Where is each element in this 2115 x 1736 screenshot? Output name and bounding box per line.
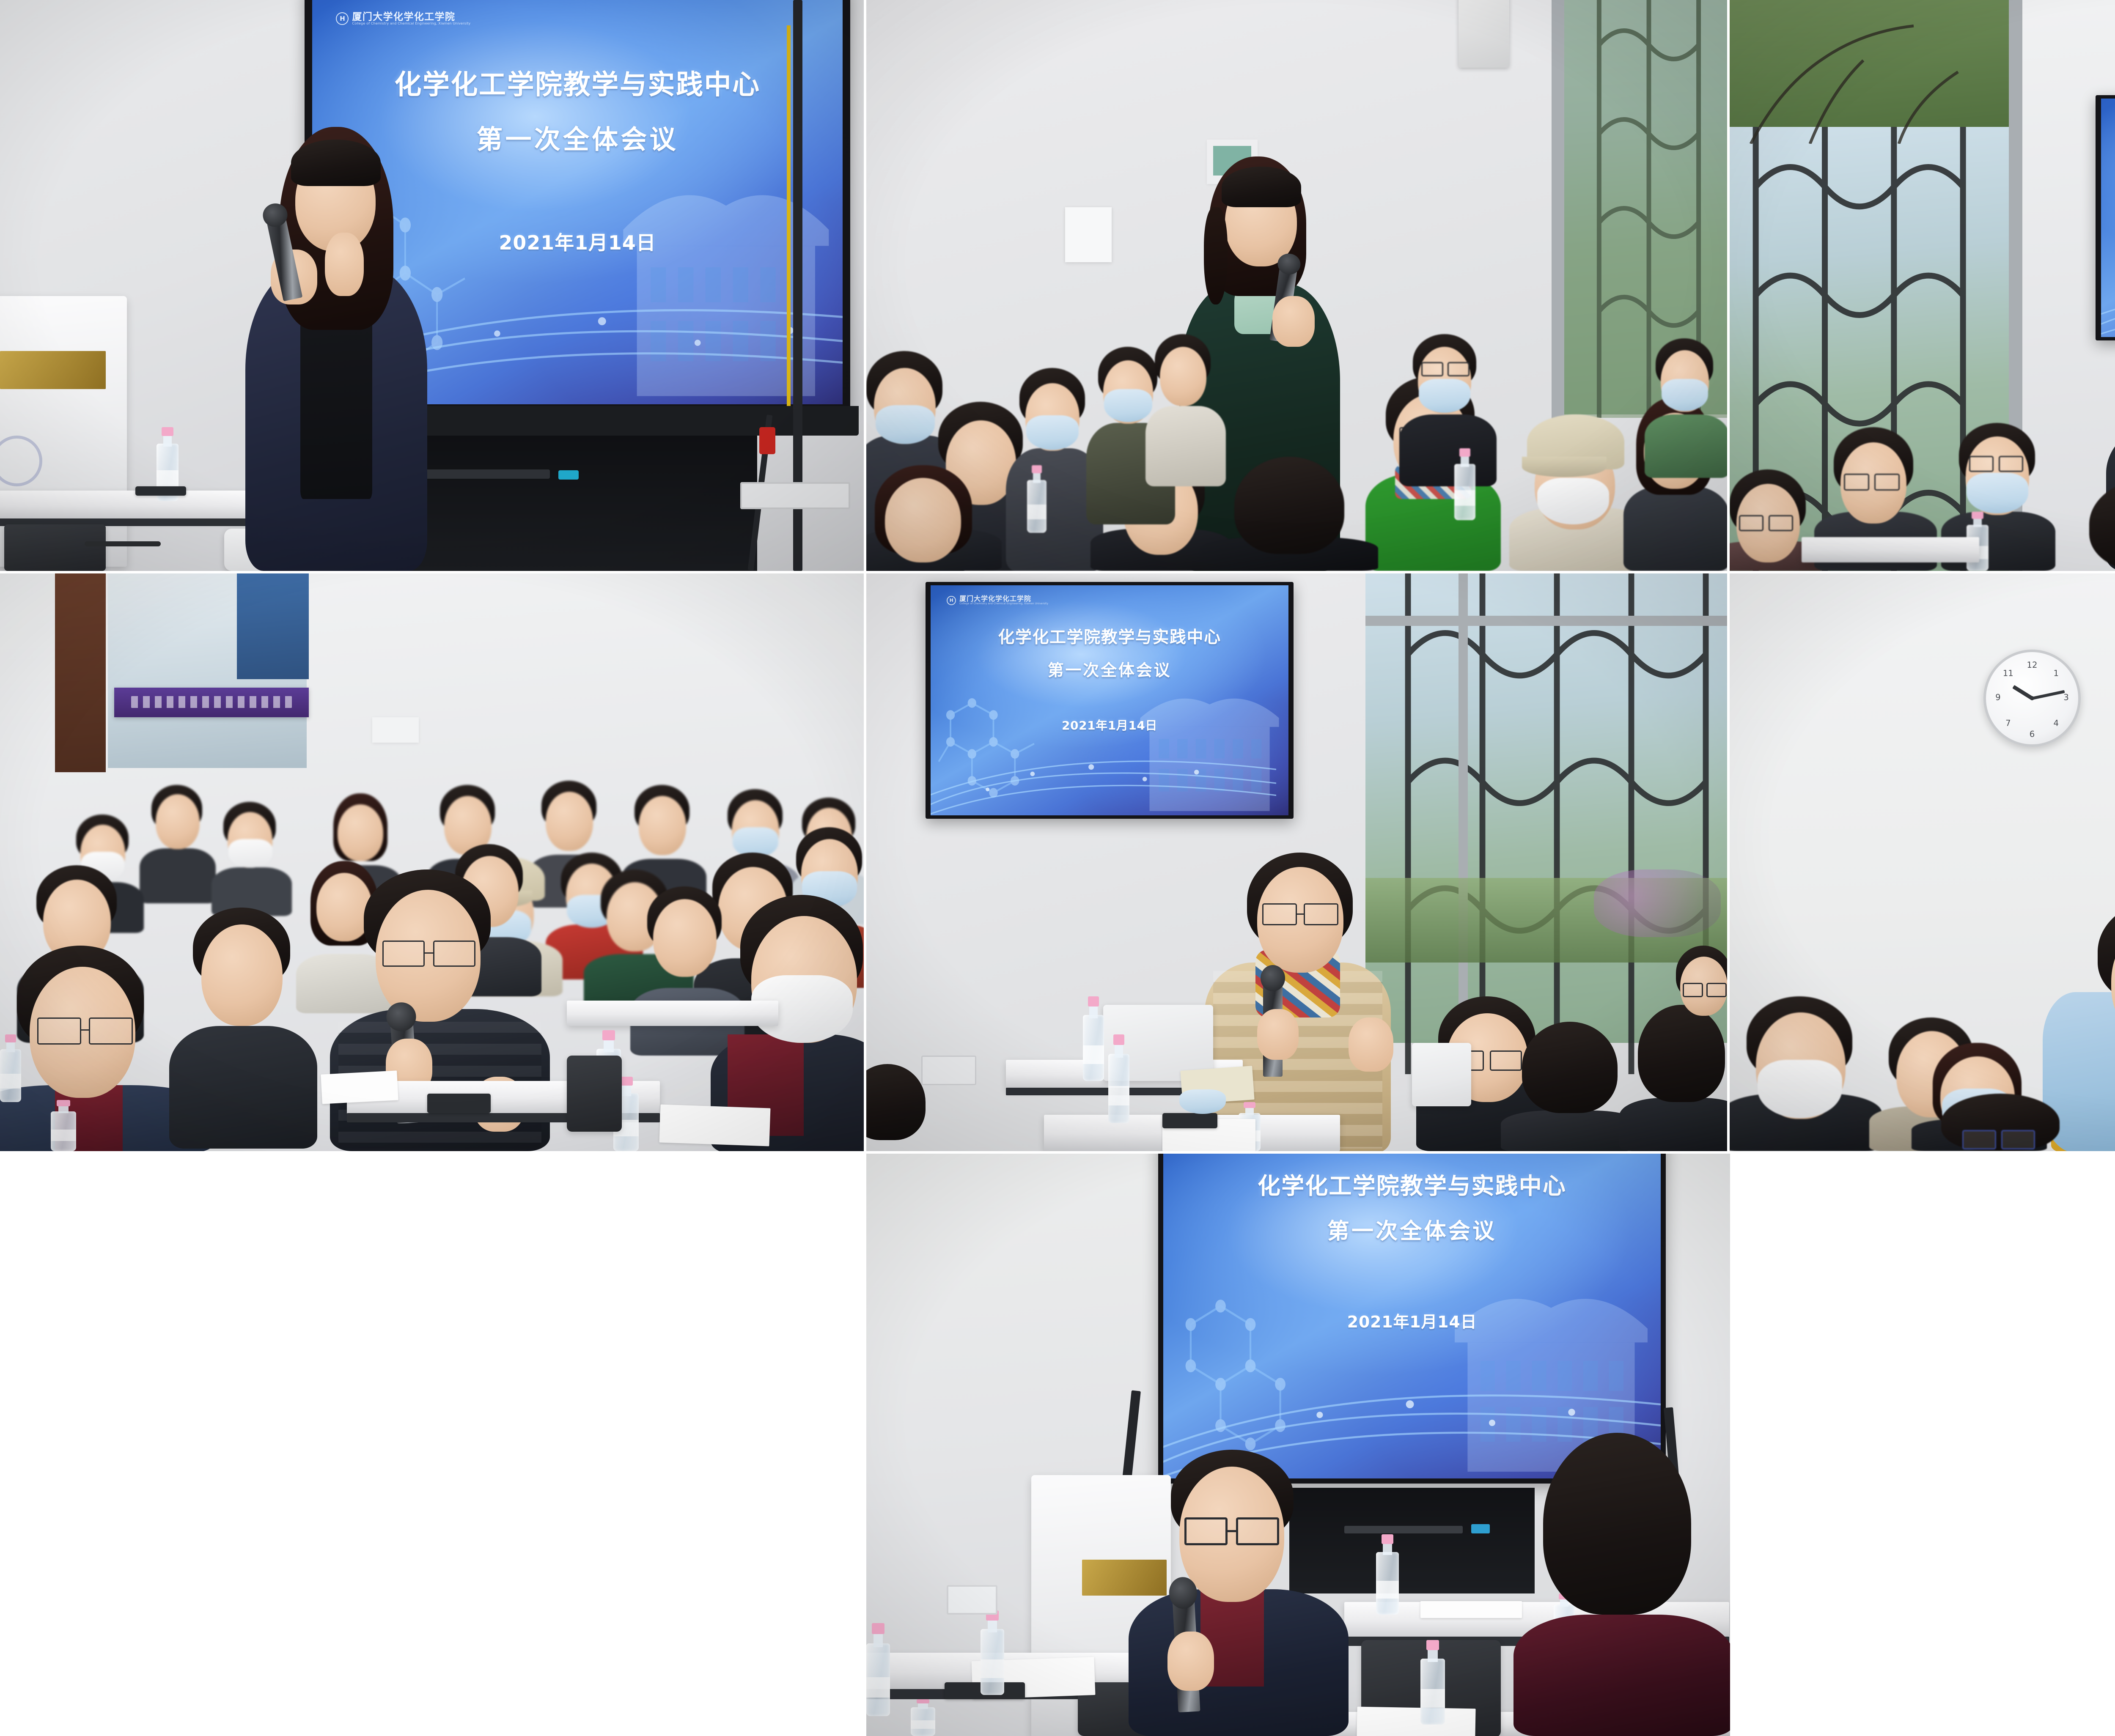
- red-equipment-box: [759, 427, 775, 454]
- wall-notice: [372, 717, 419, 743]
- presenter-fringe: [291, 140, 381, 186]
- sign-text-blur: [131, 696, 292, 708]
- chair: [1412, 1043, 1471, 1106]
- glasses-icon: [382, 941, 425, 967]
- water-bottle: [1376, 1534, 1399, 1615]
- standing-speaker: [1200, 853, 1420, 1151]
- svg-text:1: 1: [2053, 669, 2058, 678]
- lectern-plaque: [0, 351, 106, 389]
- speaker-person: [220, 127, 457, 571]
- svg-text:12: 12: [2027, 660, 2038, 670]
- slide-content: H 厦门大学化学化工学院 College of Chemistry and Ch…: [2101, 99, 2115, 337]
- slide-content: 化学化工学院教学与实践中心 第一次全体会议 2021年1月14日: [1163, 1154, 1661, 1478]
- water-bottle: [911, 1699, 935, 1736]
- wall-socket-panel: [921, 1056, 976, 1085]
- slide-logo: H 厦门大学化学化工学院 College of Chemistry and Ch…: [947, 595, 1048, 605]
- audience-member-front: [1200, 457, 1378, 571]
- phone-on-desk: [427, 1094, 491, 1113]
- photo-2-top-center[interactable]: [866, 0, 1727, 571]
- chair: [567, 1056, 622, 1132]
- listener-hair: [1543, 1433, 1691, 1615]
- seated-speaker: [1120, 1450, 1365, 1736]
- logo-text-en: College of Chemistry and Chemical Engine…: [959, 603, 1048, 605]
- speaker-hand-mic: [1257, 1009, 1299, 1060]
- water-bottle: [981, 1610, 1004, 1695]
- face-mask-on-desk: [1179, 1089, 1226, 1114]
- presentation-display: H 厦门大学化学化工学院 College of Chemistry and Ch…: [926, 582, 1294, 819]
- slide-title-line1: 化学化工学院教学与实践中心: [931, 624, 1288, 648]
- glasses-icon: [1184, 1517, 1228, 1545]
- wall-poster: [1065, 207, 1112, 262]
- audience-member-front: [1916, 1094, 2085, 1151]
- slide-content: H 厦门大学化学化工学院 College of Chemistry and Ch…: [931, 585, 1288, 815]
- audience-member-front: [2064, 478, 2115, 571]
- slide-date: 2021年1月14日: [1163, 1309, 1661, 1332]
- water-bottle: [866, 1623, 890, 1716]
- photo-4-middle-left[interactable]: [0, 573, 864, 1151]
- photo-3-top-right[interactable]: H 厦门大学化学化工学院 College of Chemistry and Ch…: [1730, 0, 2115, 571]
- slide-title-block: 化学化工学院教学与实践中心 第一次全体会议: [2101, 139, 2115, 197]
- audience-member: [1399, 334, 1497, 486]
- water-bottle: [1454, 448, 1475, 520]
- photo-collage: H 厦门大学化学化工学院 College of Chemistry and Ch…: [0, 0, 2115, 1736]
- water-bottle: [1420, 1640, 1445, 1725]
- slide-date: 2021年1月14日: [931, 716, 1288, 733]
- slide-title-line1: 化学化工学院教学与实践中心: [1163, 1167, 1661, 1201]
- photo-1-top-left[interactable]: H 厦门大学化学化工学院 College of Chemistry and Ch…: [0, 0, 864, 571]
- paper-sheet: [659, 1104, 771, 1146]
- photo-5-middle-center[interactable]: H 厦门大学化学化工学院 College of Chemistry and Ch…: [866, 573, 1727, 1151]
- tree-branches: [1730, 0, 2017, 144]
- maroon-sweater: [1513, 1615, 1730, 1736]
- glasses-icon: [37, 1017, 81, 1045]
- photo-6-middle-right[interactable]: 1213 467 911: [1730, 573, 2115, 1151]
- slide-title-line2: 第一次全体会议: [2101, 174, 2115, 197]
- paper-sheet: [1357, 1707, 1475, 1736]
- slide-title-line2: 第一次全体会议: [1163, 1213, 1661, 1245]
- water-bottle: [1027, 465, 1047, 533]
- purple-wall-sign: [114, 688, 309, 717]
- yellow-cable: [787, 25, 791, 406]
- audience-member: [140, 785, 216, 903]
- university-seal-icon: H: [336, 12, 349, 25]
- ponytail: [1204, 207, 1228, 304]
- flower-pot: [1594, 869, 1721, 937]
- window-frame: [1552, 0, 1564, 419]
- phone-on-desk: [1162, 1113, 1217, 1128]
- audience-member: [1670, 946, 1727, 1056]
- svg-text:7: 7: [2005, 718, 2011, 728]
- university-seal-icon: H: [947, 596, 956, 605]
- water-bottle: [1083, 996, 1104, 1081]
- wall-socket-panel: [740, 482, 850, 509]
- chair: [4, 524, 106, 571]
- floor-cable: [85, 541, 161, 546]
- window-frame: [1459, 573, 1468, 1043]
- slide-date: 2021年1月14日: [2101, 234, 2115, 252]
- wall-display-back: [237, 573, 309, 679]
- speaker-hand-gesture: [1349, 1017, 1393, 1072]
- slide-title-line2: 第一次全体会议: [931, 657, 1288, 680]
- audience-member: [211, 802, 292, 916]
- logo-text-cn: 厦门大学化学化工学院: [352, 12, 470, 22]
- audience-member-front-mid: [169, 908, 317, 1151]
- audience-member: [866, 465, 1002, 571]
- audience-member: [1730, 996, 1882, 1151]
- photo-7-bottom-center[interactable]: 化学化工学院教学与实践中心 第一次全体会议 2021年1月14日: [866, 1154, 1730, 1736]
- svg-text:4: 4: [2053, 718, 2058, 728]
- audience-member: [1645, 338, 1727, 478]
- clock-face-numerals: 1213 467 911: [1986, 652, 2078, 744]
- device-indicator: [558, 470, 579, 480]
- paper-sheet: [321, 1070, 398, 1104]
- svg-text:11: 11: [2003, 669, 2013, 678]
- svg-text:3: 3: [2063, 692, 2068, 702]
- slide-title-line1: 化学化工学院教学与实践中心: [312, 63, 843, 102]
- water-bottle: [51, 1100, 76, 1151]
- glasses-icon: [1262, 903, 1297, 925]
- presenter-hand-gesture: [325, 233, 364, 296]
- slide-title-line1: 化学化工学院教学与实践中心: [2101, 139, 2115, 164]
- speaker-hand-mic: [1167, 1632, 1214, 1691]
- door-frame: [55, 573, 106, 772]
- phone-on-desk: [135, 486, 186, 496]
- ceiling-speaker: [1459, 0, 1509, 68]
- slide-logo: H 厦门大学化学化工学院 College of Chemistry and Ch…: [336, 12, 470, 26]
- speaker-hand: [1272, 296, 1315, 347]
- logo-text-cn: 厦门大学化学化工学院: [959, 595, 1048, 603]
- slide-title-block: 化学化工学院教学与实践中心 第一次全体会议: [931, 624, 1288, 680]
- water-bottle: [1108, 1034, 1129, 1123]
- wall-socket-panel: [947, 1585, 997, 1615]
- foreground-listener: [1513, 1433, 1730, 1736]
- water-bottle: [0, 1034, 21, 1102]
- desk: [567, 1001, 778, 1026]
- device-indicator: [1471, 1524, 1490, 1533]
- desk: [1802, 537, 1979, 562]
- speaker-fringe: [1222, 167, 1301, 207]
- paper-sheet: [1420, 1601, 1522, 1618]
- slide-title-block: 化学化工学院教学与实践中心 第一次全体会议: [1163, 1167, 1661, 1245]
- svg-text:9: 9: [1995, 692, 2000, 702]
- svg-text:6: 6: [2030, 730, 2035, 739]
- window-frame: [1365, 616, 1727, 626]
- presentation-display: H 厦门大学化学化工学院 College of Chemistry and Ch…: [2096, 95, 2115, 340]
- wall-clock: 1213 467 911: [1983, 650, 2081, 747]
- logo-text-en: College of Chemistry and Chemical Engine…: [352, 22, 470, 25]
